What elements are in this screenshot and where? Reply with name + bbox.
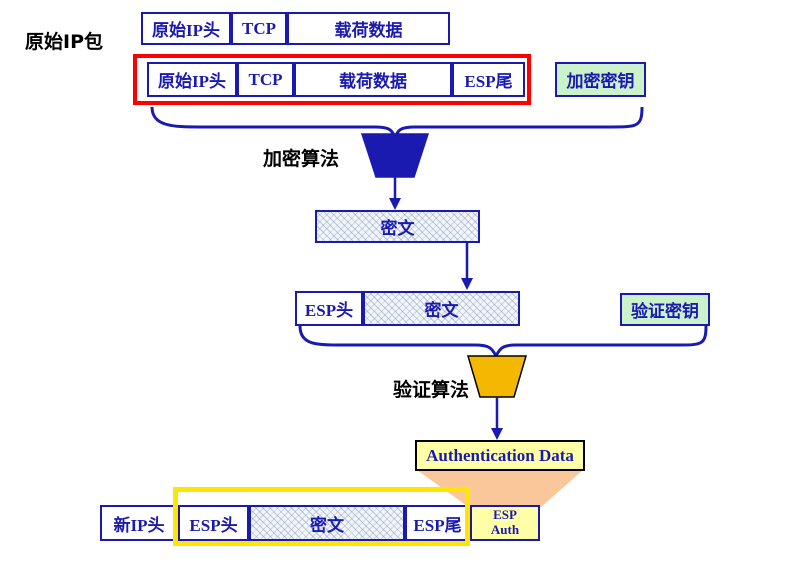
field-original-ip-header-row1: 原始IP头 bbox=[141, 12, 231, 45]
arrow-to-esp-row-head bbox=[461, 278, 473, 290]
auth-input-brace bbox=[300, 326, 706, 356]
esp-encapsulation-diagram: 原始IP包 原始IP头 TCP 载荷数据 原始IP头 TCP 载荷数据 ESP尾… bbox=[0, 0, 806, 564]
field-payload-row1: 载荷数据 bbox=[287, 12, 450, 45]
field-new-ip-header-row4: 新IP头 bbox=[100, 505, 178, 541]
authentication-key-box: 验证密钥 bbox=[620, 293, 710, 326]
authentication-algorithm-trapezoid bbox=[468, 356, 526, 397]
authentication-algorithm-label: 验证算法 bbox=[393, 375, 469, 402]
field-esp-auth-row4: ESP Auth bbox=[470, 505, 540, 541]
field-ciphertext-row3: 密文 bbox=[363, 291, 520, 326]
encryption-algorithm-label: 加密算法 bbox=[263, 144, 339, 171]
encryption-key-box: 加密密钥 bbox=[555, 62, 646, 97]
field-esp-trailer-row4: ESP尾 bbox=[405, 505, 470, 541]
field-tcp-row1: TCP bbox=[231, 12, 287, 45]
esp-auth-line1: ESP bbox=[493, 508, 517, 523]
authentication-data-box: Authentication Data bbox=[415, 440, 585, 471]
field-original-ip-header-row2: 原始IP头 bbox=[147, 62, 237, 97]
field-esp-trailer-row2: ESP尾 bbox=[452, 62, 525, 97]
field-esp-header-row3: ESP头 bbox=[295, 291, 363, 326]
encrypt-input-brace bbox=[152, 107, 642, 138]
auth-data-funnel bbox=[417, 470, 583, 508]
encryption-algorithm-trapezoid bbox=[362, 134, 428, 177]
ciphertext-box: 密文 bbox=[315, 210, 480, 243]
arrow-to-auth-data-head bbox=[491, 428, 503, 440]
field-tcp-row2: TCP bbox=[237, 62, 294, 97]
field-ciphertext-row4: 密文 bbox=[249, 505, 405, 541]
field-esp-header-row4: ESP头 bbox=[178, 505, 249, 541]
original-packet-label: 原始IP包 bbox=[25, 27, 103, 54]
field-payload-row2: 载荷数据 bbox=[294, 62, 452, 97]
esp-auth-line2: Auth bbox=[491, 523, 519, 538]
arrow-to-ciphertext-head bbox=[389, 198, 401, 210]
